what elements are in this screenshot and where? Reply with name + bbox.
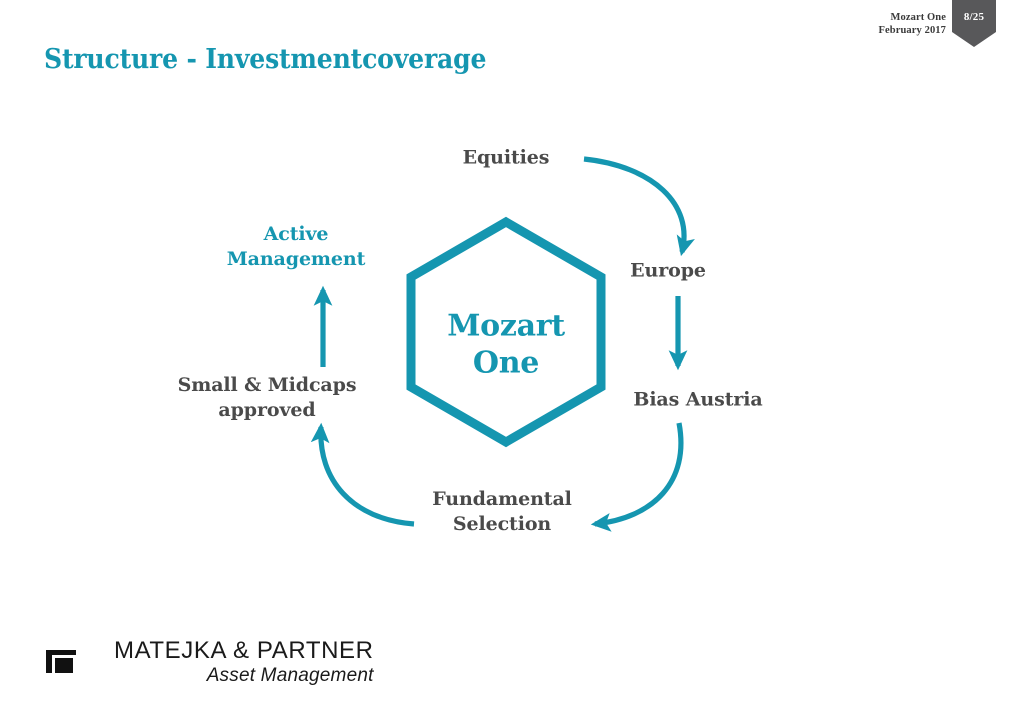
matejka-logo-icon [46, 650, 76, 673]
footer-text: MATEJKA & PARTNER Asset Management [114, 638, 374, 686]
node-label-europe: Europe [630, 258, 706, 283]
connector-fundamental-smallmidcaps [321, 427, 414, 524]
slide: Mozart One February 2017 8/25 Structure … [0, 0, 1024, 724]
header-meta: Mozart One February 2017 [879, 11, 947, 38]
node-label-active-management: Active Management [227, 222, 366, 272]
node-label-bias-austria: Bias Austria [633, 387, 762, 412]
connector-bias-fundamental [595, 423, 681, 524]
node-label-fundamental-selection: Fundamental Selection [432, 487, 572, 537]
node-label-small-midcaps: Small & Midcaps approved [178, 373, 357, 423]
footer-company-name: MATEJKA & PARTNER [114, 638, 374, 665]
footer-tagline: Asset Management [114, 665, 374, 686]
page-number-badge: 8/25 [952, 0, 996, 47]
cycle-diagram: Mozart One Equities Europe Bias Austria … [0, 100, 1024, 570]
header-doc-title: Mozart One [879, 11, 947, 24]
node-label-equities: Equities [463, 145, 550, 170]
page-title: Structure - Investmentcoverage [44, 44, 486, 75]
header-doc-date: February 2017 [879, 24, 947, 37]
connector-equities-europe [584, 159, 684, 252]
center-node-label: Mozart One [447, 308, 565, 381]
footer-logo: MATEJKA & PARTNER Asset Management [46, 638, 374, 686]
page-number-label: 8/25 [952, 11, 996, 23]
